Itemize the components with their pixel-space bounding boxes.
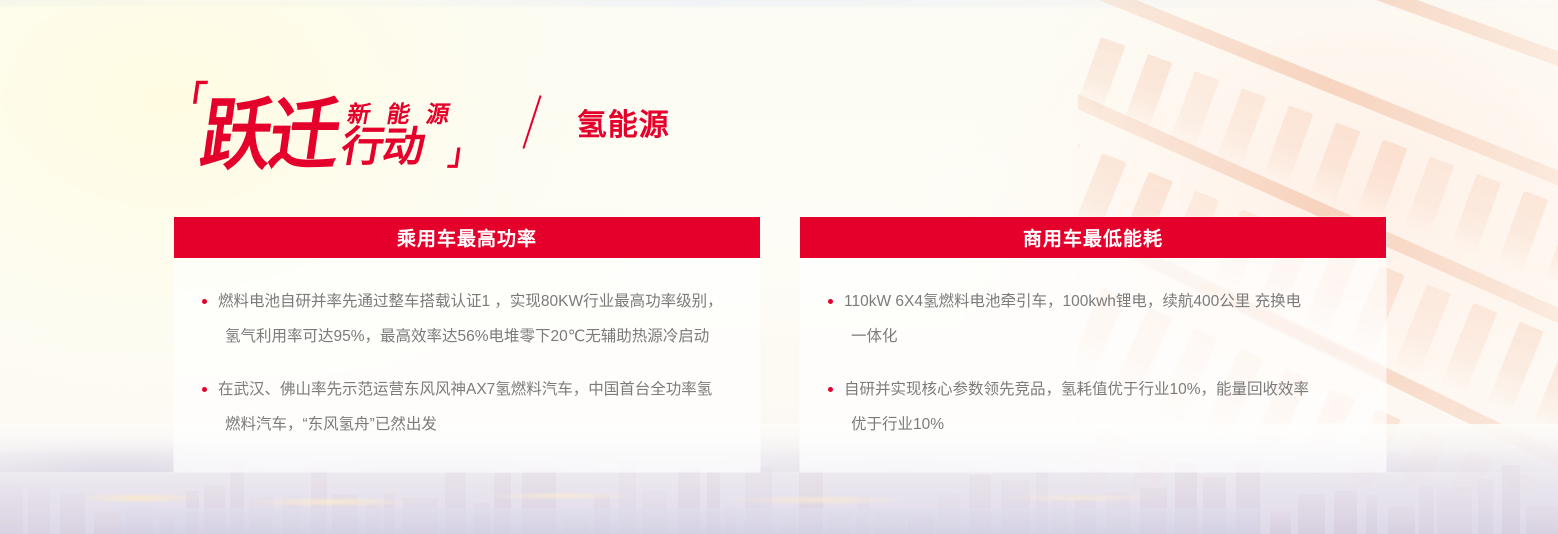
bullet-line: 氢气利用率可达95%，最高效率达56%电堆零下20℃无辅助热源冷启动 [218, 319, 734, 354]
bullet-line: 优于行业10% [844, 407, 1360, 442]
bullet-dot-icon [828, 387, 833, 392]
facade-slat [1405, 157, 1455, 235]
facade-slat [1311, 122, 1361, 200]
list-item: 燃料电池自研并率先通过整车搭载认证1 ，实现80KW行业最高功率级别，氢气利用率… [200, 284, 734, 354]
logo-category-tag: 氢能源 [577, 100, 670, 144]
logo-sub-text: 新 能 源 行动 [338, 102, 456, 168]
bullet-list: 110kW 6X4氢燃料电池牵引车，100kwh锂电，续航400公里 充换电一体… [826, 284, 1360, 442]
bullet-line: 燃料汽车，“东风氢舟”已然出发 [218, 407, 734, 442]
card-container: 乘用车最高功率燃料电池自研并率先通过整车搭载认证1 ，实现80KW行业最高功率级… [174, 217, 1386, 472]
facade-slat [1546, 208, 1558, 286]
card-title: 乘用车最高功率 [174, 217, 760, 258]
logo-mark: 「 跃迁 新 能 源 行动 「 [172, 76, 479, 168]
facade-slat [1264, 105, 1314, 183]
facade-slat [1358, 140, 1408, 218]
info-card: 商用车最低能耗110kW 6X4氢燃料电池牵引车，100kwh锂电，续航400公… [800, 217, 1386, 472]
info-card: 乘用车最高功率燃料电池自研并率先通过整车搭载认证1 ，实现80KW行业最高功率级… [174, 217, 760, 472]
list-item: 110kW 6X4氢燃料电池牵引车，100kwh锂电，续航400公里 充换电一体… [826, 284, 1360, 354]
facade-slat [1534, 340, 1558, 429]
list-item: 自研并实现核心参数领先竞品，氢耗值优于行业10%，能量回收效率优于行业10% [826, 372, 1360, 442]
bullet-line: 在武汉、佛山率先示范运营东风风神AX7氢燃料汽车，中国首台全功率氢 [218, 372, 734, 407]
logo-sub-bottom-text: 行动 [338, 126, 452, 168]
bullet-line: 一体化 [844, 319, 1360, 354]
facade-slat [1487, 322, 1543, 411]
brand-logo: 「 跃迁 新 能 源 行动 「 氢能源 [172, 74, 670, 170]
facade-slat [1499, 191, 1549, 269]
bullet-dot-icon [202, 387, 207, 392]
facade-slat [1441, 303, 1497, 392]
bullet-dot-icon [202, 299, 207, 304]
card-title: 商用车最低能耗 [800, 217, 1386, 258]
facade-slat [1217, 88, 1267, 166]
list-item: 在武汉、佛山率先示范运营东风风神AX7氢燃料汽车，中国首台全功率氢燃料汽车，“东… [200, 372, 734, 442]
bullet-line: 110kW 6X4氢燃料电池牵引车，100kwh锂电，续航400公里 充换电 [844, 284, 1360, 319]
hydrogen-energy-banner: 「 跃迁 新 能 源 行动 「 氢能源 乘用车最高功率燃料电池自研并率先通过整车… [0, 0, 1558, 534]
bullet-line: 自研并实现核心参数领先竞品，氢耗值优于行业10%，能量回收效率 [844, 372, 1360, 407]
logo-main-text: 跃迁 [197, 98, 343, 172]
bullet-list: 燃料电池自研并率先通过整车搭载认证1 ，实现80KW行业最高功率级别，氢气利用率… [200, 284, 734, 442]
logo-divider-icon [522, 95, 541, 149]
facade-slat [1395, 284, 1451, 373]
bullet-line: 燃料电池自研并率先通过整车搭载认证1 ，实现80KW行业最高功率级别， [218, 284, 734, 319]
card-body: 燃料电池自研并率先通过整车搭载认证1 ，实现80KW行业最高功率级别，氢气利用率… [174, 258, 760, 472]
card-body: 110kW 6X4氢燃料电池牵引车，100kwh锂电，续航400公里 充换电一体… [800, 258, 1386, 472]
facade-slat [1452, 174, 1502, 252]
logo-open-quote-icon: 「 [170, 82, 209, 116]
logo-close-quote-icon: 「 [447, 136, 481, 166]
bullet-dot-icon [828, 299, 833, 304]
